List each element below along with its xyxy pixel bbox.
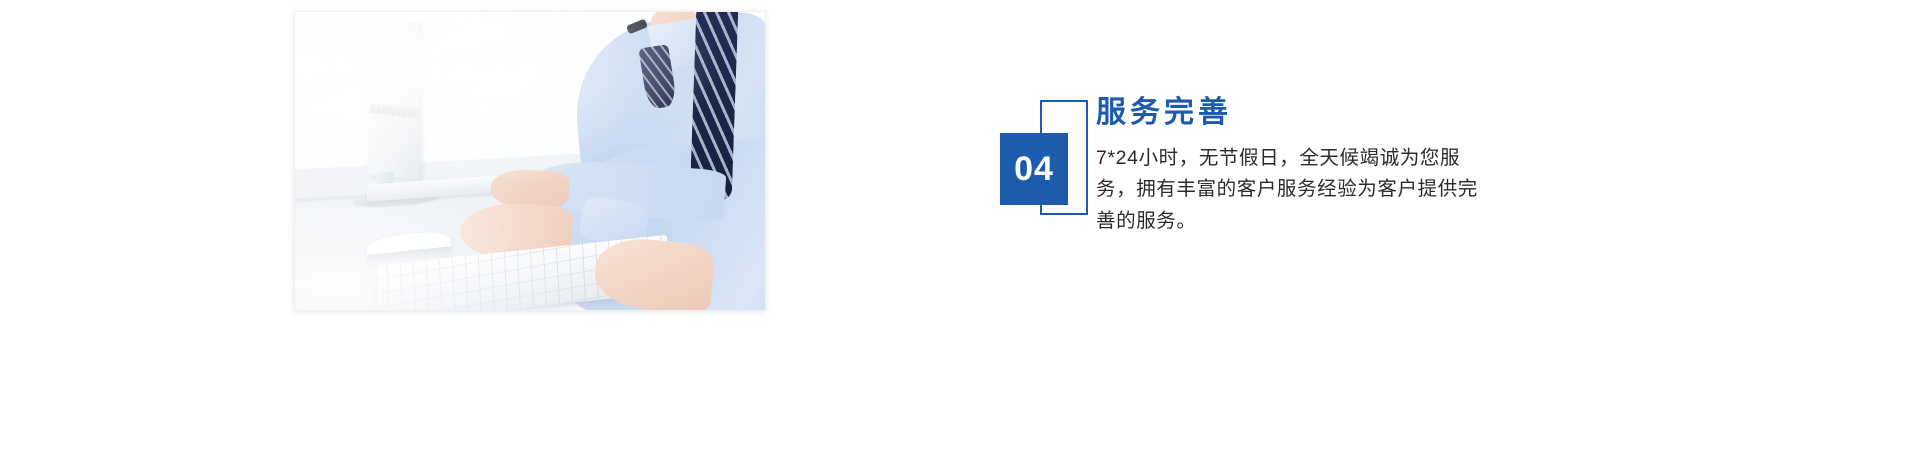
monitor-icon [368, 22, 421, 180]
feature-content: 04 服务完善 7*24小时，无节假日，全天候竭诚为您服务，拥有丰富的客户服务经… [1000, 90, 1540, 270]
promo-section: 04 服务完善 7*24小时，无节假日，全天候竭诚为您服务，拥有丰富的客户服务经… [0, 0, 1920, 452]
feature-photo [295, 12, 765, 310]
photo-scene [295, 12, 765, 310]
badge-number-label: 04 [1000, 133, 1068, 205]
step-badge: 04 [1000, 90, 1096, 220]
feature-text-column: 服务完善 7*24小时，无节假日，全天候竭诚为您服务，拥有丰富的客户服务经验为客… [1096, 90, 1526, 237]
page-title: 服务完善 [1096, 96, 1526, 131]
feature-description: 7*24小时，无节假日，全天候竭诚为您服务，拥有丰富的客户服务经验为客户提供完善… [1096, 143, 1496, 238]
